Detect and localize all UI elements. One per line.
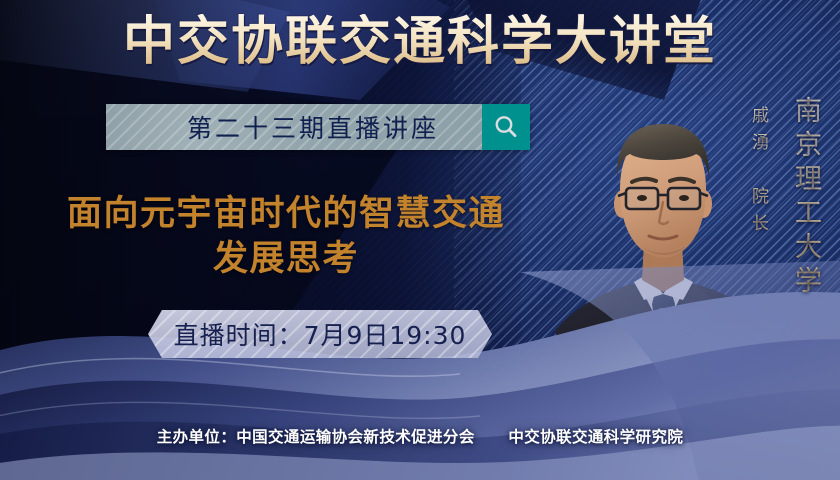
live-stream-poster: 中交协联交通科学大讲堂 第二十三期直播讲座 面向元宇宙时代的智慧交通 发展思考 … [0,0,840,480]
lecture-headline: 面向元宇宙时代的智慧交通 发展思考 [24,192,548,282]
speaker-organization: 南京理工大学 [786,96,825,300]
lecture-headline-line1: 面向元宇宙时代的智慧交通 [24,192,548,237]
speaker-name-title: 戚湧 院长 [746,106,771,241]
organizer-primary: 主办单位：中国交通运输协会新技术促进分会 [157,428,475,446]
page-title: 中交协联交通科学大讲堂 [0,14,840,71]
organizer-secondary: 中交协联交通科学研究院 [508,428,683,446]
episode-banner: 第二十三期直播讲座 [106,104,530,150]
broadcast-time-badge: 直播时间：7月9日19:30 [148,310,492,358]
search-button[interactable] [482,104,530,150]
episode-banner-body: 第二十三期直播讲座 [106,104,482,150]
broadcast-time-label: 直播时间：7月9日19:30 [174,316,467,352]
episode-label: 第二十三期直播讲座 [149,109,439,145]
lecture-headline-line2: 发展思考 [24,237,548,282]
search-icon [492,113,520,141]
background-silk-ribbons [0,260,840,480]
organizer-footer: 主办单位：中国交通运输协会新技术促进分会 中交协联交通科学研究院 [0,425,840,447]
